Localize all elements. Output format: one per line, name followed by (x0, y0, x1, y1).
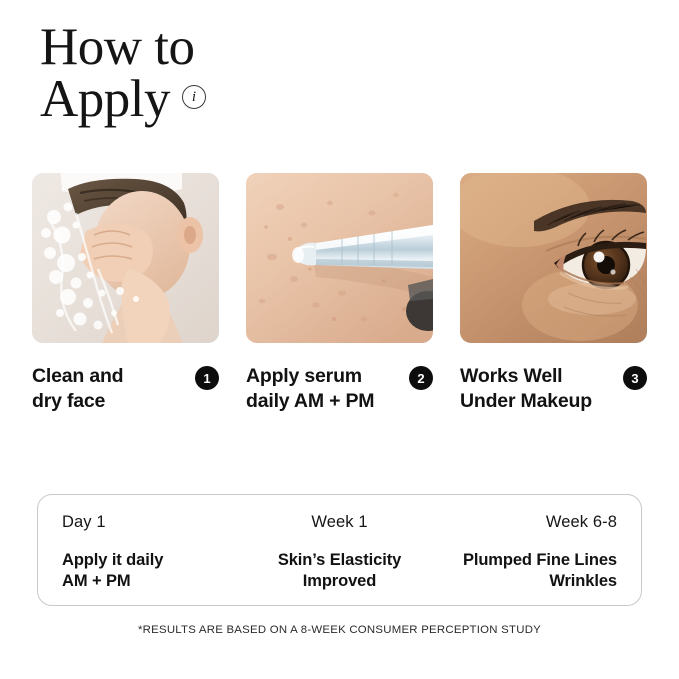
serum-dropper-photo (246, 173, 433, 343)
headline-block: How to Apply (40, 22, 440, 126)
timeline-time-label: Week 1 (311, 513, 367, 532)
eye-closeup-photo (460, 173, 647, 343)
step-caption-row: Clean and dry face 1 (32, 364, 219, 414)
footnote-disclaimer: *RESULTS ARE BASED ON A 8-WEEK CONSUMER … (0, 624, 679, 636)
step-item: Clean and dry face 1 (32, 173, 219, 414)
info-icon-glyph: i (192, 90, 196, 105)
step-badge: 2 (409, 366, 433, 390)
timeline-column-week-1: Week 1 Skin’s Elasticity Improved (247, 513, 432, 589)
step-label: Works Well Under Makeup (460, 364, 592, 414)
washing-face-illustration (32, 173, 219, 343)
infographic-page: How to Apply i (0, 0, 679, 679)
page-title: How to Apply (40, 22, 440, 126)
step-label: Clean and dry face (32, 364, 123, 414)
timeline-column-day-1: Day 1 Apply it daily AM + PM (62, 513, 247, 589)
info-icon[interactable]: i (182, 85, 206, 109)
washing-face-photo (32, 173, 219, 343)
timeline-description: Skin’s Elasticity Improved (278, 550, 401, 592)
step-badge: 1 (195, 366, 219, 390)
step-item: Apply serum daily AM + PM 2 (246, 173, 433, 414)
serum-dropper-illustration (246, 173, 433, 343)
steps-row: Clean and dry face 1 (32, 173, 647, 414)
timeline-description: Plumped Fine Lines Wrinkles (463, 550, 617, 592)
timeline-time-label: Week 6-8 (546, 513, 617, 532)
timeline-description: Apply it daily AM + PM (62, 550, 163, 592)
step-caption-row: Works Well Under Makeup 3 (460, 364, 647, 414)
eye-closeup-illustration (460, 173, 647, 343)
step-label: Apply serum daily AM + PM (246, 364, 374, 414)
timeline-time-label: Day 1 (62, 513, 106, 532)
timeline-column-week-6-8: Week 6-8 Plumped Fine Lines Wrinkles (432, 513, 617, 589)
results-timeline-box: Day 1 Apply it daily AM + PM Week 1 Skin… (37, 494, 642, 606)
step-caption-row: Apply serum daily AM + PM 2 (246, 364, 433, 414)
step-badge: 3 (623, 366, 647, 390)
step-item: Works Well Under Makeup 3 (460, 173, 647, 414)
